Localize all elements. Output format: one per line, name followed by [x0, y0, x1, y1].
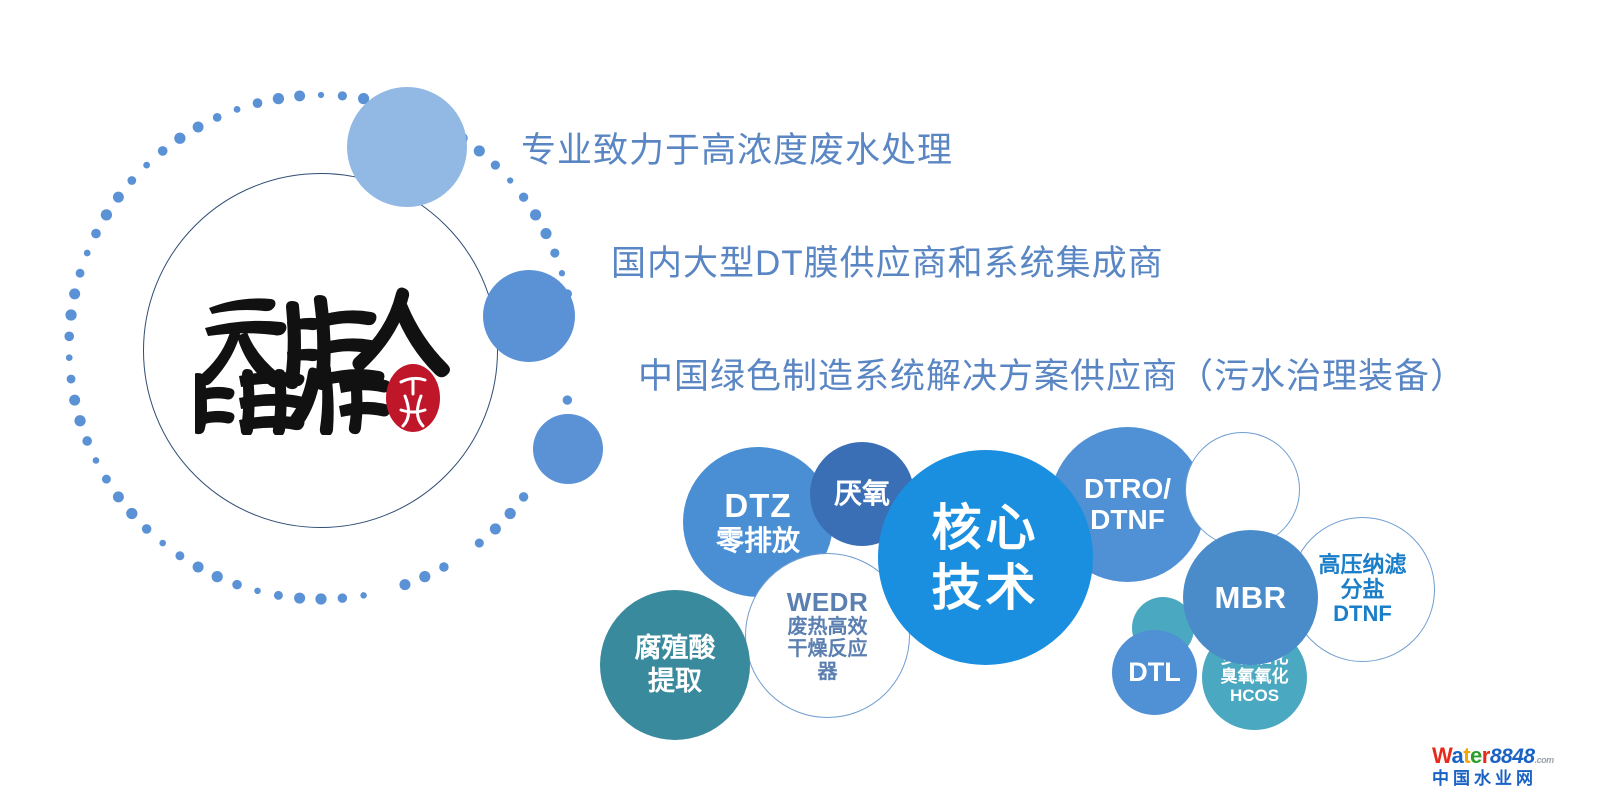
headline-line-3: 中国绿色制造系统解决方案供应商（污水治理装备）	[638, 348, 1466, 399]
bubble-dtro-line1: DTRO/	[1084, 474, 1171, 504]
red-seal-icon	[386, 364, 440, 432]
bubble-hpnf-line1: 高压纳滤	[1318, 553, 1406, 577]
watermark-subtitle: 中国水业网	[1432, 770, 1592, 787]
bubble-dtl-label: DTL	[1128, 658, 1180, 687]
watermark-letter-e: e	[1470, 743, 1482, 768]
bubble-wedr-line3: 干燥反应	[788, 639, 868, 661]
watermark-tld: .com	[1535, 755, 1554, 765]
bubble-wedr-line4: 器	[818, 662, 838, 684]
watermark-letter-a: a	[1451, 743, 1463, 768]
bubble-anaerobic-label: 厌氧	[834, 479, 890, 509]
orbit-circle-top	[347, 87, 467, 207]
orbit-circle-bottom	[533, 414, 603, 484]
bubble-hpnf-line3: DTNF	[1333, 602, 1392, 626]
watermark: Water8848.com 中国水业网	[1432, 745, 1592, 800]
watermark-letter-r: r	[1482, 743, 1490, 768]
company-logo	[195, 270, 450, 435]
watermark-number: 8848	[1490, 745, 1535, 768]
watermark-letter-w: W	[1432, 743, 1451, 768]
bubble-dtro-line2: DTNF	[1090, 505, 1165, 535]
bubble-humic-line1: 腐殖酸	[635, 634, 716, 663]
bubble-mbr[interactable]: MBR	[1183, 530, 1318, 665]
bubble-core-line2: 技术	[932, 561, 1040, 615]
bubble-wedr-line2: 废热高效	[788, 617, 868, 639]
watermark-letter-t: t	[1463, 743, 1470, 768]
bubble-core-technology[interactable]: 核心 技术	[878, 450, 1093, 665]
headline-line-1: 专业致力于高浓度废水处理	[521, 122, 953, 173]
slide-canvas: 专业致力于高浓度废水处理 国内大型DT膜供应商和系统集成商 中国绿色制造系统解决…	[0, 0, 1600, 810]
bubble-dtz-line1: DTZ	[724, 488, 791, 524]
logo-calligraphy	[195, 270, 450, 435]
orbit-circle-middle	[483, 270, 575, 362]
brand-emblem	[55, 75, 595, 620]
watermark-wordmark: Water8848.com	[1432, 745, 1592, 767]
bubble-humic-line2: 提取	[648, 667, 702, 696]
bubble-hpnf-line2: 分盐	[1340, 578, 1384, 602]
bubble-dtl[interactable]: DTL	[1112, 630, 1197, 715]
bubble-dtz-line2: 零排放	[716, 526, 800, 556]
bubble-humic-acid-extraction[interactable]: 腐殖酸 提取	[600, 590, 750, 740]
bubble-hcos-line2: 臭氧氧化	[1221, 668, 1289, 686]
core-technology-bubble-cluster: DTZ 零排放 厌氧 腐殖酸 提取 WEDR 废热高效 干燥反应 器 核心 技术…	[595, 405, 1465, 750]
bubble-hcos-line3: HCOS	[1230, 687, 1279, 705]
bubble-uf-ro-label: UF/RO	[1204, 476, 1282, 503]
bubble-wedr-line1: WEDR	[787, 588, 868, 616]
bubble-core-line1: 核心	[932, 501, 1040, 555]
headline-line-2: 国内大型DT膜供应商和系统集成商	[611, 235, 1164, 286]
bubble-mbr-label: MBR	[1214, 581, 1286, 614]
